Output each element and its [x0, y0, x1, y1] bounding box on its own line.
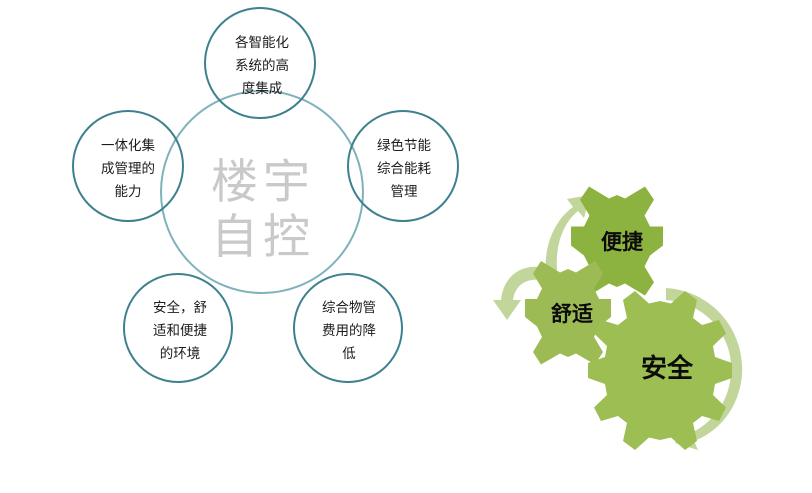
gear-safe-label: 安全 [641, 353, 694, 384]
diagram-canvas: 楼宇 自控 各智能化 系统的高 度集成 一体化集 成管理的 能力 绿色节能 综合… [0, 0, 812, 493]
satellite-left-line-1: 一体化集 [101, 138, 155, 154]
satellite-left-label: 一体化集 成管理的 能力 [101, 138, 155, 200]
gear-comfortable[interactable]: 舒适 [525, 261, 611, 365]
satellite-bottom-left-label: 安全，舒 适和便捷 的环境 [153, 299, 207, 362]
satellite-bottom-right-line-2: 费用的降 [322, 323, 376, 339]
full-diagram: 楼宇 自控 各智能化 系统的高 度集成 一体化集 成管理的 能力 绿色节能 综合… [0, 0, 812, 493]
satellite-bottom-right-label: 综合物管 费用的降 低 [322, 300, 376, 362]
satellite-left-line-2: 成管理的 [101, 161, 155, 177]
satellite-bottom-right-line-3: 低 [342, 346, 356, 362]
satellite-top-line-3: 度集成 [242, 81, 283, 97]
satellite-top-line-2: 系统的高 [235, 57, 289, 74]
satellite-right-line-3: 管理 [391, 184, 418, 200]
center-label-line1: 楼宇 [211, 155, 315, 210]
satellite-bottom-right-line-1: 综合物管 [322, 300, 376, 316]
satellite-bottom-left-line-3: 的环境 [160, 346, 201, 362]
satellite-right-label: 绿色节能 综合能耗 管理 [377, 137, 431, 200]
satellite-right-line-1: 绿色节能 [377, 137, 431, 154]
satellite-top-line-1: 各智能化 [235, 35, 289, 51]
gear-convenient-label: 便捷 [601, 230, 643, 254]
satellite-right-line-2: 综合能耗 [377, 161, 431, 177]
satellite-bottom-left-line-1: 安全，舒 [153, 299, 207, 316]
satellite-top-label: 各智能化 系统的高 度集成 [235, 35, 289, 97]
center-label-line2: 自控 [211, 210, 315, 265]
satellite-bottom-left-line-2: 适和便捷 [153, 323, 207, 339]
building-automation-circles: 楼宇 自控 各智能化 系统的高 度集成 一体化集 成管理的 能力 绿色节能 综合… [73, 8, 458, 382]
gear-cluster: 便捷 舒适 安全 [493, 187, 742, 451]
satellite-left-line-3: 能力 [115, 184, 142, 200]
gear-comfortable-label: 舒适 [551, 302, 593, 326]
